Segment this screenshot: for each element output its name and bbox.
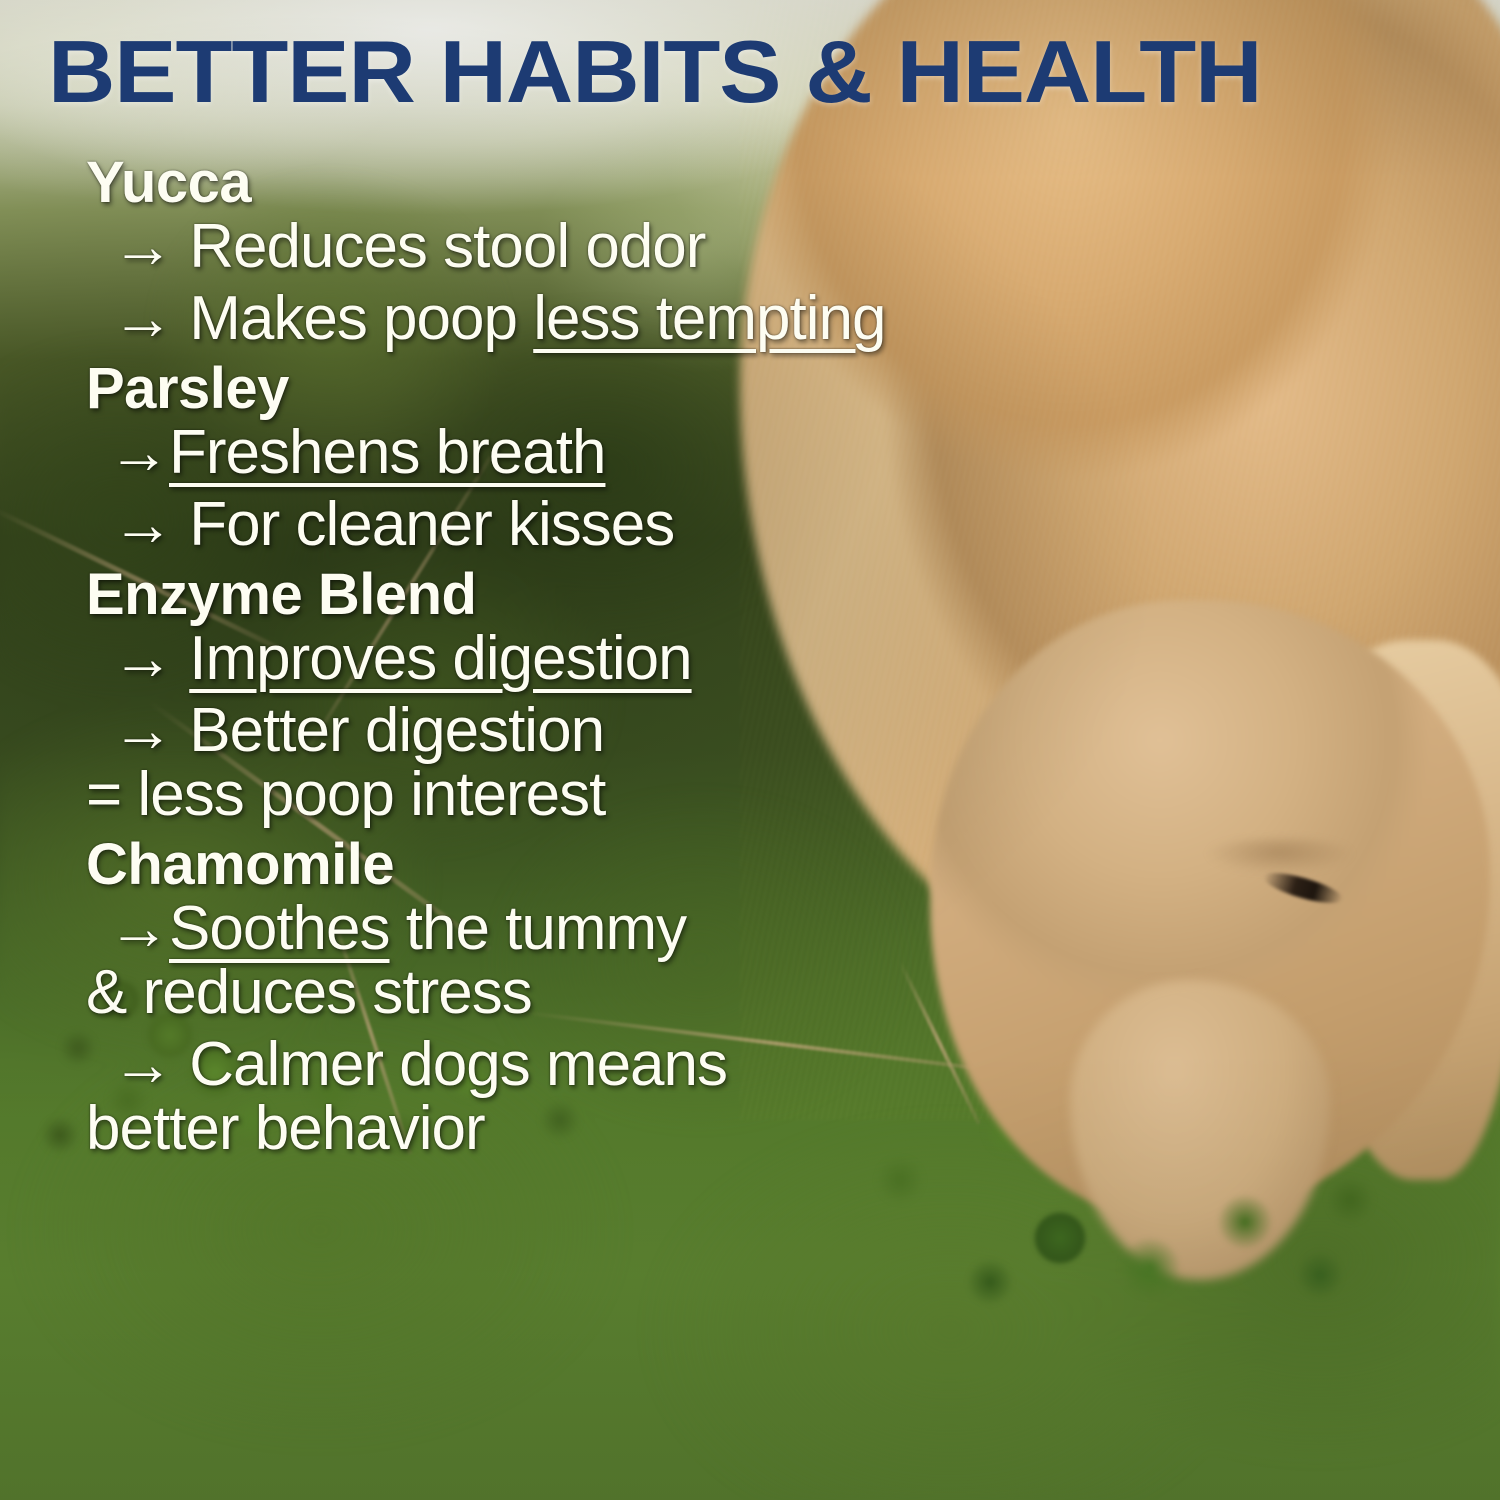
bullet-text-underlined: Freshens breath: [169, 418, 605, 487]
arrow-icon: →: [112, 624, 173, 693]
section-heading-enzyme-blend: Enzyme Blend: [86, 566, 1216, 624]
arrow-icon: →: [112, 696, 173, 765]
section-heading-parsley: Parsley: [86, 360, 1216, 418]
bullet-text: Better digestion: [173, 696, 604, 765]
bullet-text-underlined: less tempting: [533, 284, 885, 353]
bullet-text-underlined: Improves digestion: [189, 624, 691, 693]
bullet-yucca-2: → Makes poop less tempting: [86, 288, 1216, 350]
bullet-parsley-1: →Freshens breath: [86, 422, 1216, 484]
bullet-chamomile-1: →Soothes the tummy: [86, 898, 1216, 960]
bullet-text-underlined: Soothes: [169, 894, 390, 963]
bullet-chamomile-continuation: & reduces stress: [86, 962, 1216, 1024]
benefits-list: Yucca → Reduces stool odor → Makes poop …: [86, 148, 1216, 1170]
section-heading-yucca: Yucca: [86, 154, 1216, 212]
arrow-icon: →: [112, 1030, 173, 1099]
arrow-icon: →: [112, 212, 173, 281]
bullet-chamomile-continuation-2: better behavior: [86, 1098, 1216, 1160]
bullet-text: Reduces stool odor: [173, 212, 705, 281]
arrow-icon: →: [112, 284, 173, 353]
bullet-parsley-2: → For cleaner kisses: [86, 494, 1216, 556]
bullet-text: For cleaner kisses: [173, 490, 674, 559]
arrow-icon: →: [108, 894, 169, 963]
page-title: BETTER HABITS & HEALTH: [48, 28, 1500, 116]
poster-canvas: BETTER HABITS & HEALTH Yucca → Reduces s…: [0, 0, 1500, 1500]
bullet-enzyme-2: → Better digestion: [86, 700, 1216, 762]
bullet-text: the tummy: [390, 894, 687, 963]
bullet-text: [173, 624, 189, 693]
bullet-yucca-1: → Reduces stool odor: [86, 216, 1216, 278]
arrow-icon: →: [112, 490, 173, 559]
section-heading-chamomile: Chamomile: [86, 836, 1216, 894]
arrow-icon: →: [108, 418, 169, 487]
bullet-enzyme-1: → Improves digestion: [86, 628, 1216, 690]
bullet-enzyme-continuation: = less poop interest: [86, 764, 1216, 826]
bullet-text: Makes poop: [173, 284, 533, 353]
bullet-chamomile-2: → Calmer dogs means: [86, 1034, 1216, 1096]
bullet-text: Calmer dogs means: [173, 1030, 727, 1099]
